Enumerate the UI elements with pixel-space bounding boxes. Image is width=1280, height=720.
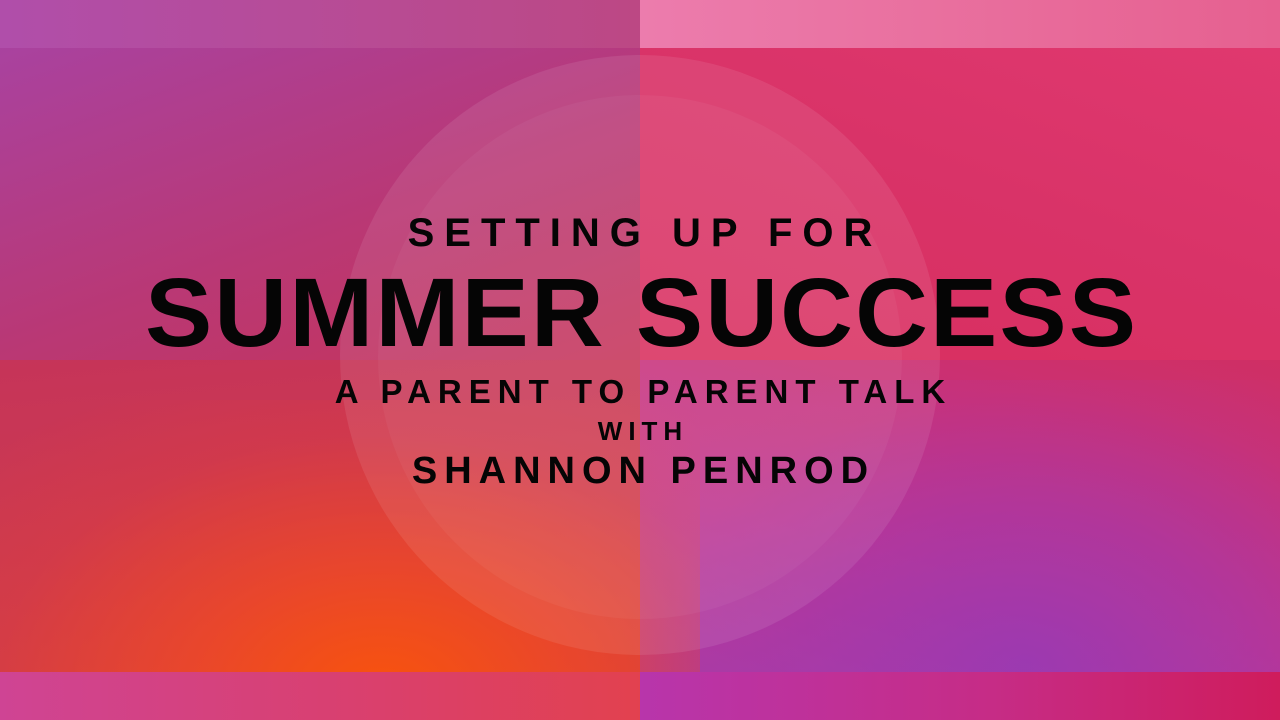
title-slide: SETTING UP FOR SUMMER SUCCESS A PARENT T…: [0, 0, 1280, 720]
top-color-band: [0, 0, 1280, 48]
translucent-circle-inner: [378, 95, 902, 619]
bottom-band-left-half: [0, 672, 640, 720]
top-band-left-half: [0, 0, 640, 48]
top-band-right-half: [640, 0, 1280, 48]
bottom-band-right-half: [640, 672, 1280, 720]
bottom-color-band: [0, 672, 1280, 720]
